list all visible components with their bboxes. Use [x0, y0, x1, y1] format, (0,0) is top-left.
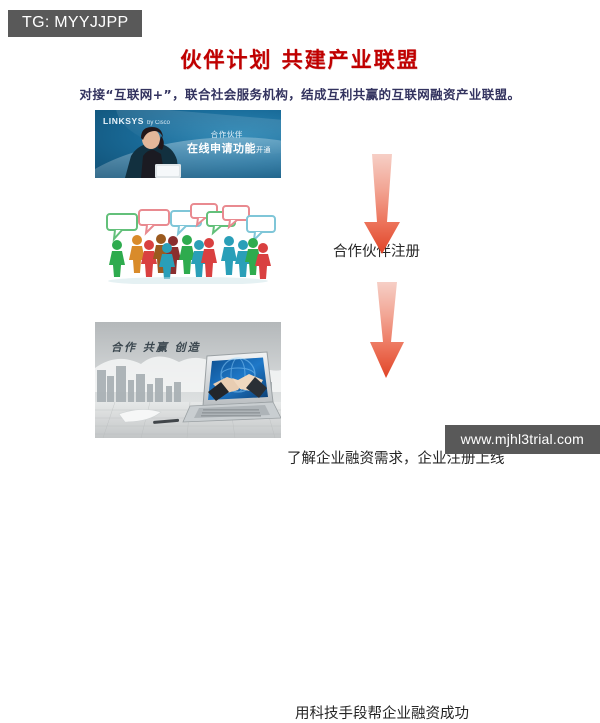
- step-label-3: 用科技手段帮企业融资成功: [295, 702, 469, 723]
- watermark-url: www.mjhl3trial.com: [445, 425, 600, 454]
- step-row-3: 合作 共赢 创造 用科技手段帮企业融资成功: [0, 322, 600, 440]
- banner-text-line-2-main: 在线申请功能: [187, 142, 256, 155]
- crowd-illustration: [95, 196, 281, 284]
- banner-text-line-1: 合作伙伴: [211, 129, 243, 140]
- step-row-2: 了解企业融资需求，企业注册上线: [0, 196, 600, 286]
- image-linksys-partner-banner: LINKSYS by Cisco 合作伙伴 在线申请功能开通: [95, 110, 281, 178]
- page-title: 伙伴计划 共建产业联盟: [0, 44, 600, 74]
- banner-text-line-2: 在线申请功能开通: [187, 140, 271, 156]
- businesswoman-illustration: [121, 126, 183, 178]
- banner-text-line-2-suffix: 开通: [256, 146, 271, 154]
- image-crowd-speech-bubbles: [95, 196, 281, 284]
- handshake-caption: 合作 共赢 创造: [111, 339, 201, 355]
- tg-tag: TG: MYYJJPP: [8, 10, 142, 37]
- linksys-logo: LINKSYS by Cisco: [103, 116, 170, 126]
- step-row-1: LINKSYS by Cisco 合作伙伴 在线申请功能开通 合作伙伴注册: [0, 110, 600, 188]
- page-subtitle: 对接“互联网+”，联合社会服务机构，结成互利共赢的互联网融资产业联盟。: [0, 84, 600, 103]
- linksys-wordmark: LINKSYS: [103, 116, 144, 126]
- image-laptop-handshake: 合作 共赢 创造: [95, 322, 281, 438]
